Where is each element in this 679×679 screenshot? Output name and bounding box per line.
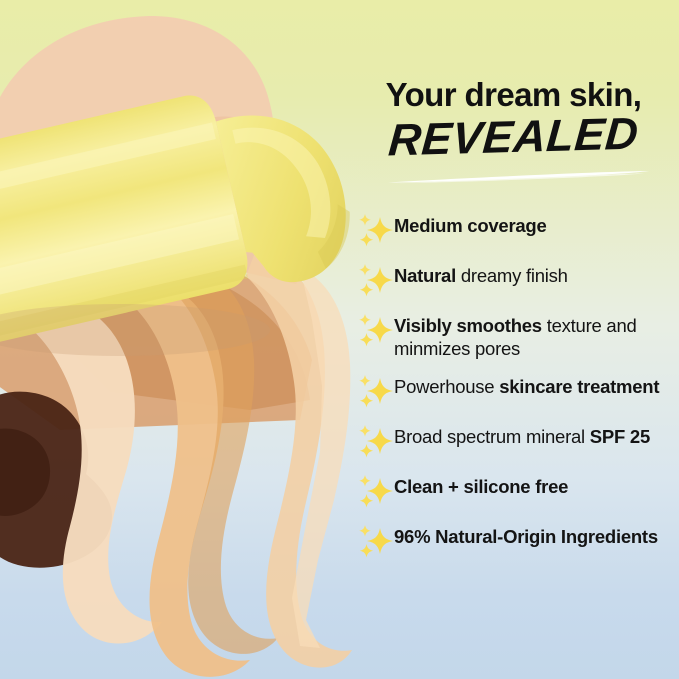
- headline-line-2: REVEALED: [387, 111, 640, 163]
- brush-stroke-underline-icon: [386, 170, 651, 184]
- product-image: [0, 0, 360, 679]
- benefits-list: Medium coverage Natural dreamy finish: [356, 212, 679, 573]
- benefit-item: 96% Natural-Origin Ingredients: [356, 523, 679, 560]
- benefit-segment: SPF 25: [590, 426, 650, 447]
- benefit-item: Powerhouse skincare treatment: [356, 373, 679, 410]
- sparkle-icon: [356, 424, 394, 460]
- benefit-label: Natural dreamy finish: [394, 262, 679, 288]
- benefit-item: Visibly smoothes texture and minmizes po…: [356, 312, 679, 360]
- sparkle-icon: [356, 474, 394, 510]
- benefit-label: Powerhouse skincare treatment: [394, 373, 679, 399]
- benefit-label: Visibly smoothes texture and minmizes po…: [394, 312, 679, 360]
- benefit-segment: skincare treatment: [499, 376, 659, 397]
- benefit-label: Medium coverage: [394, 212, 679, 238]
- benefit-item: Natural dreamy finish: [356, 262, 679, 299]
- sparkle-icon: [356, 524, 394, 560]
- benefit-segment: Medium coverage: [394, 215, 547, 236]
- copy-column: Your dream skin, REVEALED: [348, 0, 679, 679]
- benefit-segment: Visibly smoothes: [394, 315, 542, 336]
- benefit-segment: dreamy finish: [456, 265, 568, 286]
- sparkle-icon: [356, 374, 394, 410]
- benefit-label: Broad spectrum mineral SPF 25: [394, 423, 679, 449]
- benefit-segment: Broad spectrum mineral: [394, 426, 590, 447]
- headline-block: Your dream skin, REVEALED: [348, 78, 679, 176]
- benefit-item: Medium coverage: [356, 212, 679, 249]
- benefit-item: Clean + silicone free: [356, 473, 679, 510]
- sparkle-icon: [356, 313, 394, 349]
- sparkle-icon: [356, 263, 394, 299]
- benefit-item: Broad spectrum mineral SPF 25: [356, 423, 679, 460]
- benefit-segment: Powerhouse: [394, 376, 499, 397]
- benefit-segment: Clean + silicone free: [394, 476, 568, 497]
- benefit-segment: 96% Natural-Origin Ingredients: [394, 526, 658, 547]
- benefit-label: 96% Natural-Origin Ingredients: [394, 523, 679, 549]
- product-benefits-poster: Your dream skin, REVEALED: [0, 0, 679, 679]
- sparkle-icon: [356, 213, 394, 249]
- benefit-label: Clean + silicone free: [394, 473, 679, 499]
- benefit-segment: Natural: [394, 265, 456, 286]
- headline-line-2-wrap: REVEALED: [348, 114, 679, 176]
